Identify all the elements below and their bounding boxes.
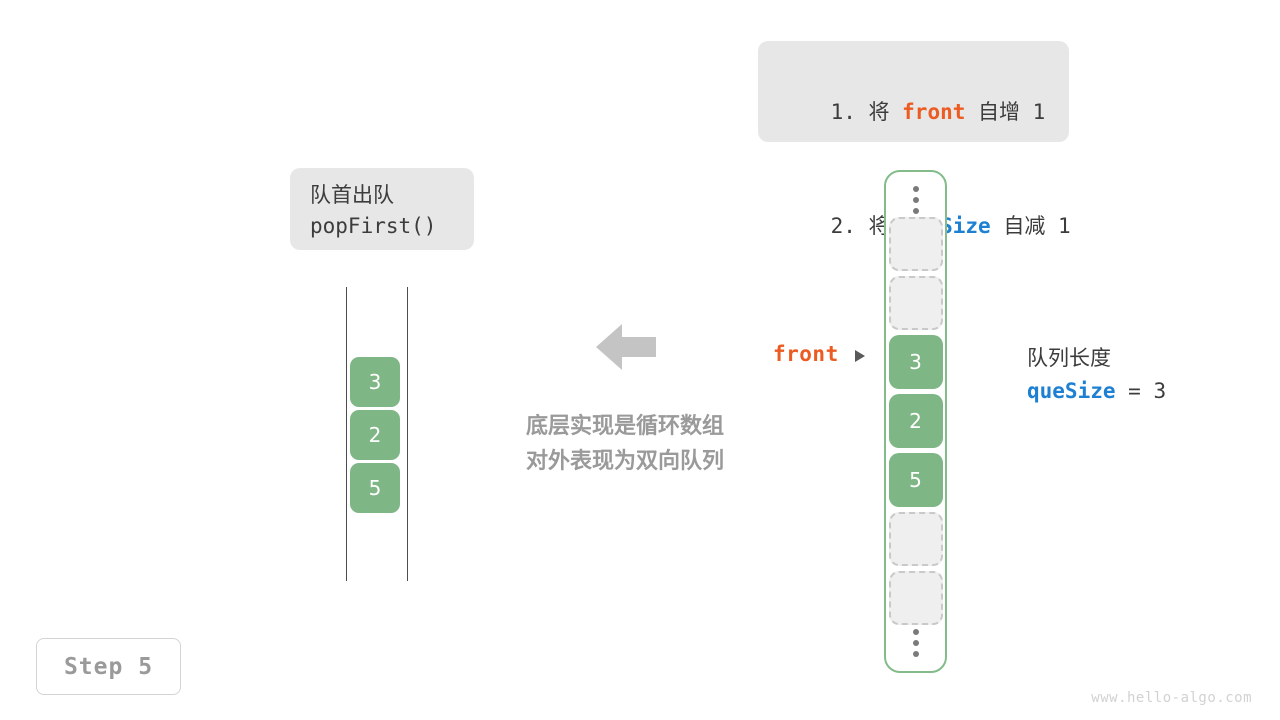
deque-cell: 5 [350, 463, 400, 513]
operation-steps-box: 1. 将 front 自增 1 2. 将 queSize 自减 1 [758, 41, 1069, 142]
array-slot-empty [889, 512, 943, 566]
operation-title: 队首出队 [310, 180, 474, 211]
operation-step-suffix: 自减 1 [991, 214, 1071, 238]
step-badge: Step 5 [36, 638, 181, 695]
operation-step-line: 1. 将 front 自增 1 [780, 55, 1047, 169]
watermark: www.hello-algo.com [1091, 690, 1252, 706]
implementation-note-line1: 底层实现是循环数组 [455, 409, 795, 444]
vertical-ellipsis-icon [913, 629, 919, 657]
operation-step-suffix: 自增 1 [965, 100, 1045, 124]
deque-cell-list: 3 2 5 [350, 357, 400, 516]
queue-size-equals: = [1116, 379, 1154, 403]
deque-rail-left [346, 287, 347, 581]
front-pointer-label: front [773, 342, 839, 366]
queue-size-value: 3 [1153, 379, 1166, 403]
implementation-note: 底层实现是循环数组 对外表现为双向队列 [455, 409, 795, 479]
circular-array-slot-list: 3 2 5 [889, 217, 943, 630]
quesize-variable: queSize [1027, 379, 1116, 403]
queue-size-title: 队列长度 [1027, 342, 1166, 374]
array-slot-filled: 2 [889, 394, 943, 448]
queue-size-expression: queSize = 3 [1027, 374, 1166, 408]
array-slot-empty [889, 217, 943, 271]
front-keyword: front [902, 100, 965, 124]
front-pointer-arrow-icon [855, 350, 865, 362]
deque-rail-right [407, 287, 408, 581]
deque-cell: 2 [350, 410, 400, 460]
circular-array-container: 3 2 5 [884, 170, 947, 673]
array-slot-filled: 5 [889, 453, 943, 507]
operation-label-box: 队首出队 popFirst() [290, 168, 474, 250]
vertical-ellipsis-icon [913, 186, 919, 214]
operation-method-name: popFirst() [310, 211, 474, 242]
array-slot-empty [889, 571, 943, 625]
operation-step-prefix: 1. 将 [831, 100, 903, 124]
deque-cell: 3 [350, 357, 400, 407]
array-slot-filled: 3 [889, 335, 943, 389]
array-slot-empty [889, 276, 943, 330]
implementation-note-line2: 对外表现为双向队列 [455, 444, 795, 479]
flow-arrow-left-icon [596, 322, 656, 372]
queue-size-note: 队列长度 queSize = 3 [1027, 342, 1166, 408]
